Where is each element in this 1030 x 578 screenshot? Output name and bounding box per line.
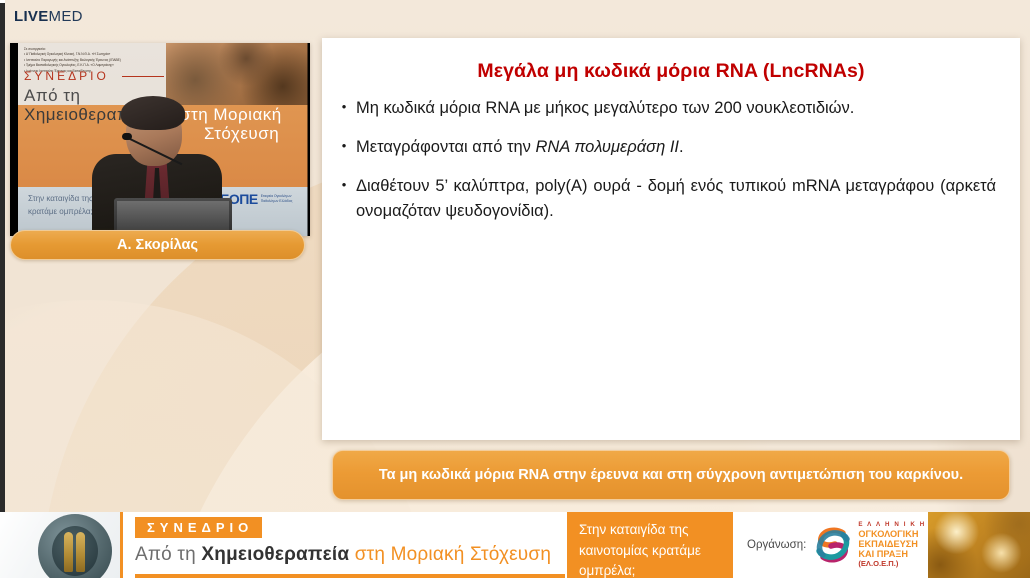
eloep-line-5: (ΕΛ.Ο.Ε.Π.) [858,560,926,569]
slide-bullet-text: Διαθέτουν 5’ καλύπτρα, poly(A) ουρά - δο… [356,174,996,224]
footer-organizer-label: Οργάνωση: [747,539,806,551]
eloep-swirl-icon [813,526,853,564]
speaker-name-label: Α. Σκορίλας [117,237,198,253]
footer-conf-part-4: Μοριακή Στόχευση [391,544,551,565]
footer-conf-part-1: Από τη [135,544,201,565]
slide-bullet-item: • Διαθέτουν 5’ καλύπτρα, poly(A) ουρά - … [332,174,996,224]
poster-badge-rule [122,76,164,77]
slide-bullet-text: Μη κωδικά μόρια RNA με μήκος μεγαλύτερο … [356,96,996,121]
brand-logo[interactable]: LIVEMED [14,8,83,25]
video-frame: Σε συνεργασία: • Α’ Παθολογική Ογκολογικ… [10,43,310,236]
bullet-marker-icon: • [332,174,356,197]
speaker-hair [121,96,185,130]
bullet-text-post: . [679,138,684,156]
footer-tagline-line-2: καινοτομίας κρατάμε [579,541,723,562]
presentation-viewer: LIVEMED Σε συνεργασία: • Α’ Παθολογική Ο… [0,0,1030,578]
slide-bullet-item: • Μη κωδικά μόρια RNA με μήκος μεγαλύτερ… [332,96,996,121]
eloep-logo-text: Ε Λ Λ Η Ν Ι Κ Η ΟΓΚΟΛΟΓΙΚΗ ΕΚΠΑΙΔΕΥΣΗ ΚΑ… [858,522,926,568]
eope-logo-subtext: Εταιρεία Ογκολόγων Παθολόγων Ελλάδας [261,194,293,204]
poster-top-image [166,43,310,105]
brand-logo-primary: LIVE [14,8,49,25]
eloep-line-3: ΕΚΠΑΙΔΕΥΣΗ [858,539,926,549]
session-title-label: Τα μη κωδικά μόρια RNA στην έρευνα και σ… [379,465,963,486]
speaker-name-badge[interactable]: Α. Σκορίλας [10,230,305,260]
poster-conference-badge: ΣΥΝΕΔΡΙΟ [24,69,109,83]
footer-tagline-line-1: Στην καταιγίδα της [579,520,723,541]
video-player-thumbnail[interactable]: Σε συνεργασία: • Α’ Παθολογική Ογκολογικ… [10,43,310,236]
footer-organizer-block: Οργάνωση: Ε Λ Λ Η Ν Ι Κ Η ΟΓΚΟΛΟΓΙΚΗ ΕΚΠ… [733,512,928,578]
bullet-text-pre: Διαθέτουν 5’ καλύπτρα, poly(A) ουρά - δο… [356,177,996,220]
bullet-marker-icon: • [332,135,356,158]
eloep-line-1: Ε Λ Λ Η Ν Ι Κ Η [858,522,926,529]
footer-tagline-line-3: ομπρέλα; [579,561,723,578]
footer-conf-part-3: στη [349,544,390,565]
footer-conference-badge: ΣΥΝΕΔΡΙΟ [135,517,262,538]
footer-tagline: Στην καταιγίδα της καινοτομίας κρατάμε ο… [567,512,733,578]
footer-molecule-image [928,512,1030,578]
eope-sub-line-2: Παθολόγων Ελλάδας [261,199,293,204]
slide-bullet-text: Μεταγράφονται από την RNA πολυμεράση II. [356,135,996,160]
slide-content-panel[interactable]: Μεγάλα μη κωδικά μόρια RNA (LncRNAs) • Μ… [322,38,1020,440]
bullet-text-pre: Μεταγράφονται από την [356,138,536,156]
slide-title: Μεγάλα μη κωδικά μόρια RNA (LncRNAs) [322,60,1020,83]
footer-figurine-right [76,532,85,572]
slide-bullet-item: • Μεταγράφονται από την RNA πολυμεράση I… [332,135,996,160]
session-title-banner[interactable]: Τα μη κωδικά μόρια RNA στην έρευνα και σ… [332,450,1010,500]
microphone-head [122,133,132,140]
slide-bullet-list: • Μη κωδικά μόρια RNA με μήκος μεγαλύτερ… [322,96,1020,238]
footer-conference-title: ΣΥΝΕΔΡΙΟ Από τη Χημειοθεραπεία στη Μορια… [120,512,567,578]
eloep-line-2: ΟΓΚΟΛΟΓΙΚΗ [858,529,926,539]
footer-sculpture-image [0,512,120,578]
bullet-text-pre: Μη κωδικά μόρια RNA με μήκος μεγαλύτερο … [356,99,854,117]
left-edge-strip [0,0,5,512]
footer-disc-inner [52,526,98,576]
footer-title-underline [135,574,565,578]
footer-conference-line: Από τη Χημειοθεραπεία στη Μοριακή Στόχευ… [135,544,567,566]
footer-banner: ΣΥΝΕΔΡΙΟ Από τη Χημειοθεραπεία στη Μορια… [0,512,1030,578]
bullet-text-emphasis: RNA πολυμεράση II [536,138,679,156]
brand-logo-secondary: MED [49,8,83,25]
bullet-marker-icon: • [332,96,356,119]
footer-figurine-left [64,532,73,572]
left-edge-notch [0,0,5,3]
footer-conf-part-2: Χημειοθεραπεία [201,544,349,565]
poster-title-line-1: Από τη [24,86,80,106]
eloep-logo: Ε Λ Λ Η Ν Ι Κ Η ΟΓΚΟΛΟΓΙΚΗ ΕΚΠΑΙΔΕΥΣΗ ΚΑ… [813,522,926,568]
